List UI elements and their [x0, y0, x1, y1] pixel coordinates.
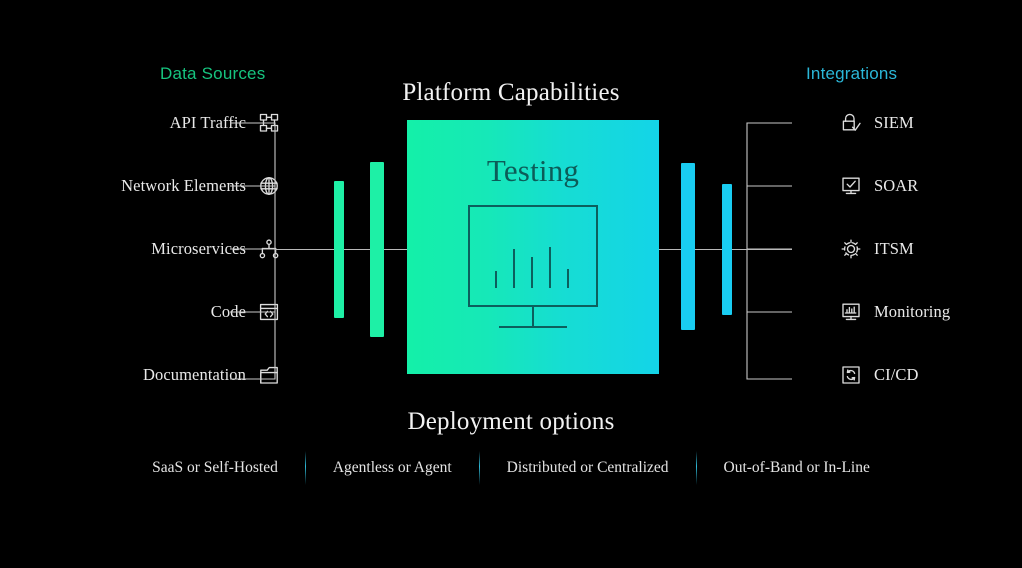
lock-check-icon: [840, 112, 862, 134]
accent-bar-left-inner: [370, 162, 384, 337]
api-network-icon: [258, 112, 280, 134]
deployment-option[interactable]: Distributed or Centralized: [480, 451, 696, 485]
deployment-options-title: Deployment options: [0, 408, 1022, 436]
code-window-icon: [258, 301, 280, 323]
diagram-canvas: Data Sources Integrations API Traffic Ne…: [0, 0, 1022, 568]
integration-label: SOAR: [874, 176, 918, 196]
data-source-label: Documentation: [143, 365, 246, 385]
data-source-label: Network Elements: [121, 176, 246, 196]
deployment-option[interactable]: Agentless or Agent: [306, 451, 479, 485]
integration-item-siem[interactable]: SIEM: [840, 106, 914, 140]
globe-icon: [258, 175, 280, 197]
integration-item-itsm[interactable]: ITSM: [840, 232, 914, 266]
integration-label: Monitoring: [874, 302, 950, 322]
integrations-connector: [702, 106, 792, 396]
integration-label: ITSM: [874, 239, 914, 259]
accent-bar-right-inner: [681, 163, 695, 330]
data-source-label: Code: [211, 302, 246, 322]
monitor-chart-icon: [840, 301, 862, 323]
capability-panel-testing[interactable]: Testing: [407, 120, 659, 374]
refresh-square-icon: [840, 364, 862, 386]
data-source-item-microservices[interactable]: Microservices: [151, 232, 280, 266]
deployment-option[interactable]: Out-of-Band or In-Line: [697, 451, 897, 485]
integration-item-soar[interactable]: SOAR: [840, 169, 918, 203]
monitor-bars-icon: [465, 203, 601, 337]
data-source-item-api-traffic[interactable]: API Traffic: [170, 106, 280, 140]
integration-item-monitoring[interactable]: Monitoring: [840, 295, 950, 329]
monitor-check-icon: [840, 175, 862, 197]
folder-icon: [258, 364, 280, 386]
integration-item-cicd[interactable]: CI/CD: [840, 358, 919, 392]
data-source-label: Microservices: [151, 239, 246, 259]
integration-label: SIEM: [874, 113, 914, 133]
deployment-option[interactable]: SaaS or Self-Hosted: [125, 451, 305, 485]
deployment-options-row: SaaS or Self-Hosted Agentless or Agent D…: [0, 450, 1022, 486]
accent-bar-right-outer: [722, 184, 732, 315]
data-source-label: API Traffic: [170, 113, 246, 133]
capability-name: Testing: [407, 153, 659, 189]
accent-bar-left-outer: [334, 181, 344, 318]
data-source-item-code[interactable]: Code: [211, 295, 280, 329]
data-source-item-network-elements[interactable]: Network Elements: [121, 169, 280, 203]
platform-capabilities-title: Platform Capabilities: [0, 79, 1022, 107]
gear-icon: [840, 238, 862, 260]
integration-label: CI/CD: [874, 365, 919, 385]
data-source-item-documentation[interactable]: Documentation: [143, 358, 280, 392]
